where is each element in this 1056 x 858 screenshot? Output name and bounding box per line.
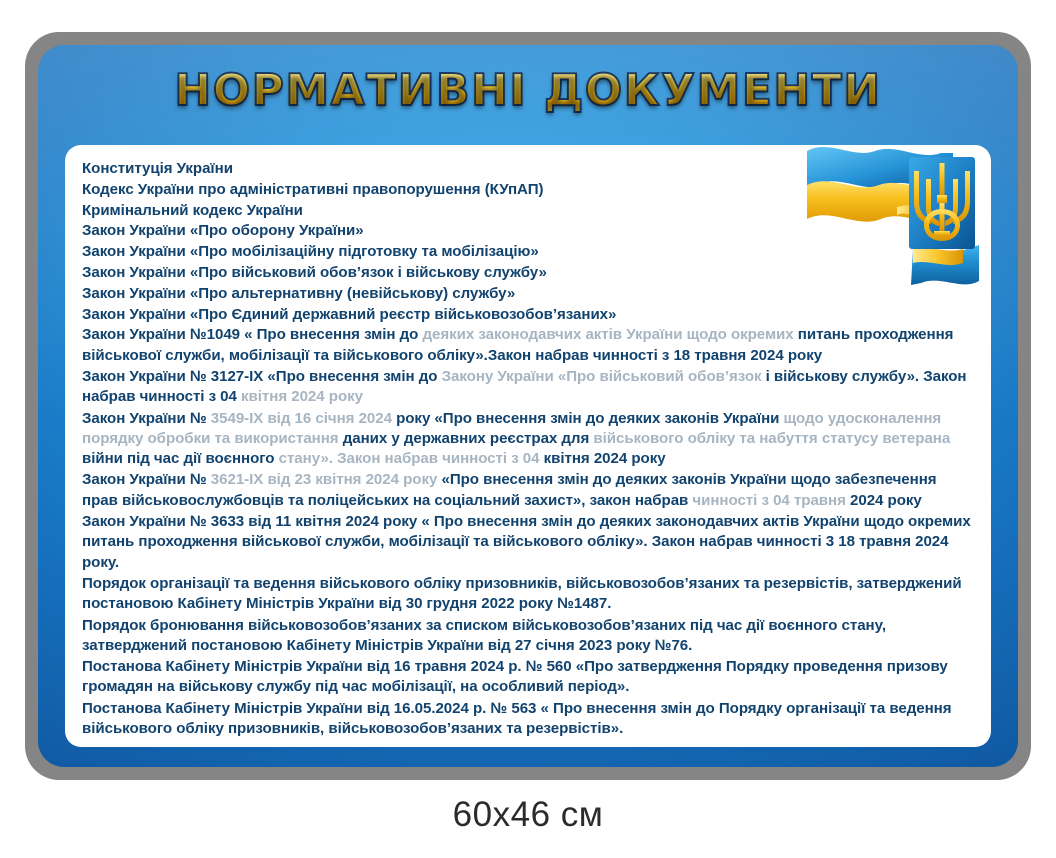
list-item: Закон України №1049 « Про внесення змін … [82, 325, 975, 366]
documents-card: Конституція України Кодекс України про а… [65, 145, 991, 747]
information-board: НОРМАТИВНІ ДОКУМЕНТИ [0, 0, 1056, 790]
board-blue-panel: НОРМАТИВНІ ДОКУМЕНТИ [38, 45, 1018, 767]
list-item: Закон України № 3621-ІХ від 23 квітня 20… [82, 470, 975, 511]
list-item: Закон України № 3127-ІХ «Про внесення зм… [82, 367, 975, 408]
list-item: Порядок бронювання військовозобов’язаних… [82, 616, 975, 657]
list-item: Постанова Кабінету Міністрів України від… [82, 657, 975, 698]
list-item: Постанова Кабінету Міністрів України від… [82, 699, 975, 740]
list-item: Закон України «Про Єдиний державний реєс… [82, 305, 782, 325]
list-item: Закон України «Про мобілізаційну підгото… [82, 242, 782, 262]
list-item: Кримінальний кодекс України [82, 201, 782, 221]
list-item: Закон України № 3633 від 11 квітня 2024 … [82, 512, 975, 573]
list-item: Кодекс України про адміністративні право… [82, 180, 782, 200]
list-item: Порядок організації та ведення військово… [82, 574, 975, 615]
documents-list: Конституція України Кодекс України про а… [82, 159, 975, 739]
page-title: НОРМАТИВНІ ДОКУМЕНТИ [38, 69, 1018, 113]
size-caption: 60x46 см [0, 795, 1056, 835]
list-item: Закон України «Про альтернативну (невійс… [82, 284, 782, 304]
list-item: Закон України № 3549-ІХ від 16 січня 202… [82, 409, 975, 470]
list-item: Конституція України [82, 159, 782, 179]
list-item: Закон України «Про військовий обов’язок … [82, 263, 782, 283]
list-item: Закон України «Про оборону України» [82, 221, 782, 241]
